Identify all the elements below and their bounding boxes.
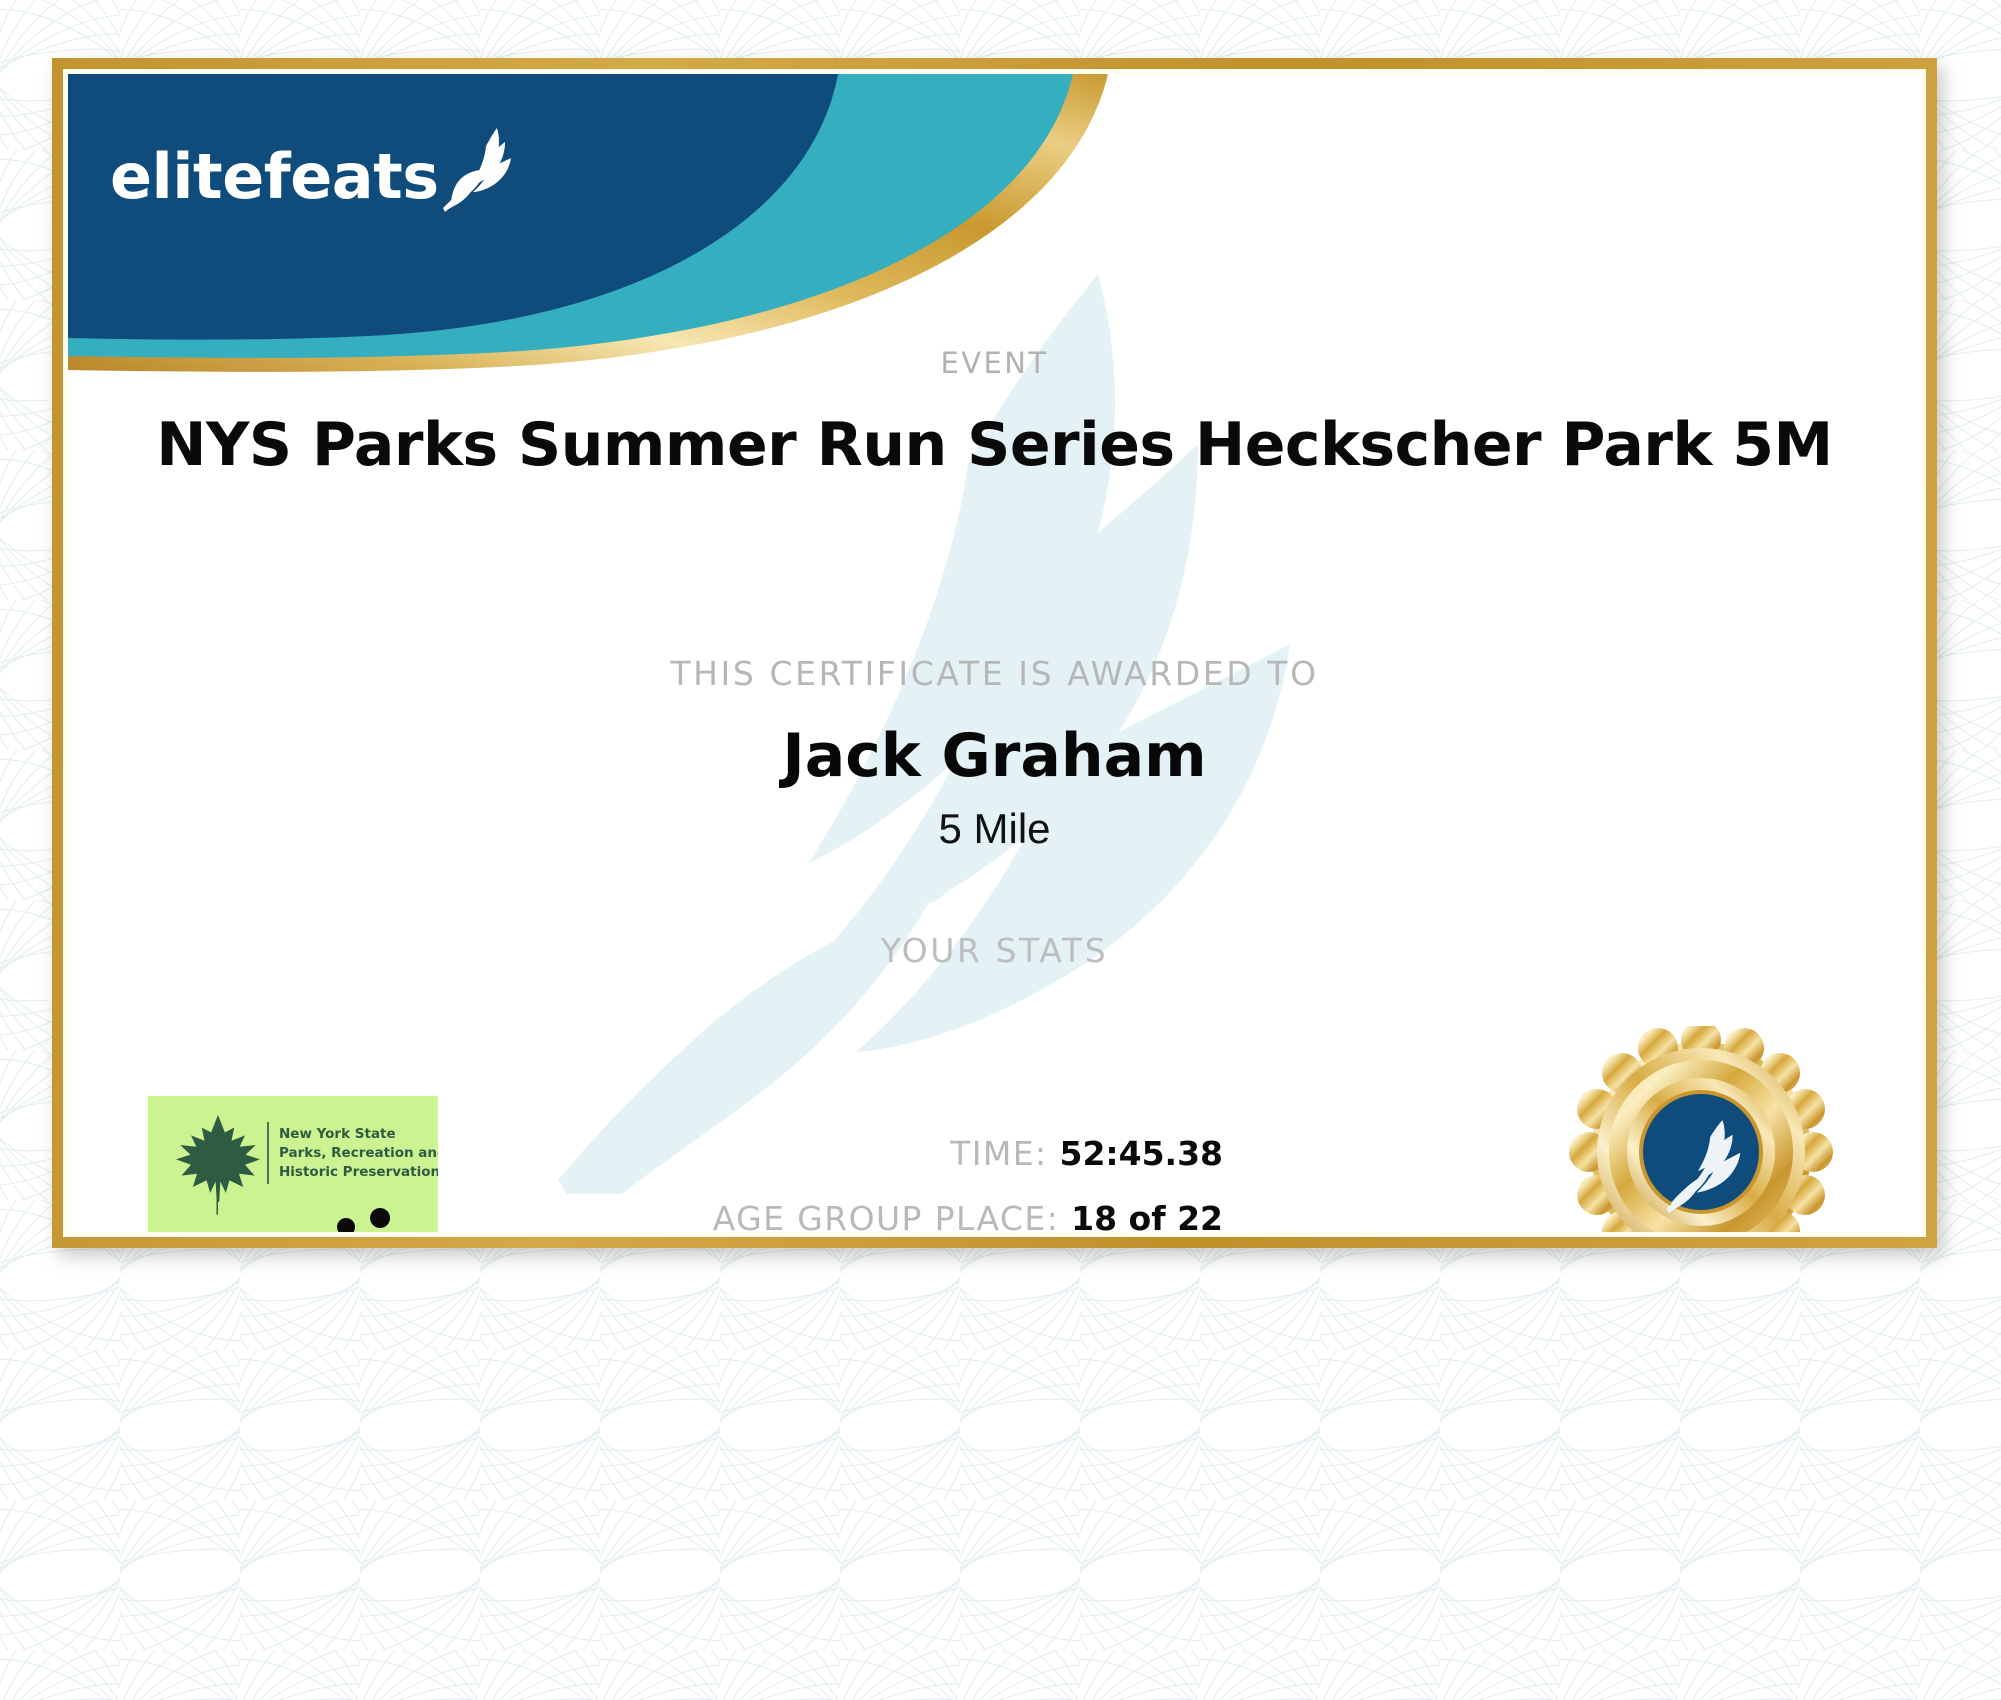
stat-label: TIME: bbox=[950, 1134, 1047, 1173]
certificate-page: elitefeats bbox=[0, 0, 2001, 1700]
stat-label: AGE GROUP PLACE: bbox=[713, 1199, 1059, 1232]
your-stats-label: YOUR STATS bbox=[68, 931, 1921, 970]
awardee-name: Jack Graham bbox=[68, 721, 1921, 791]
stat-value: 18 of 22 bbox=[1071, 1199, 1223, 1232]
stat-row: TIME: 52:45.38 bbox=[423, 1134, 1223, 1173]
event-kicker-label: EVENT bbox=[68, 346, 1921, 380]
elitefeats-logo: elitefeats bbox=[110, 126, 517, 207]
parks-agency-line-3: Historic Preservation bbox=[279, 1164, 438, 1180]
parks-agency-line-1: New York State bbox=[279, 1126, 396, 1142]
certificate-content: EVENT NYS Parks Summer Run Series Hecksc… bbox=[68, 74, 1921, 1232]
nys-parks-summer-run-logo: New York State Parks, Recreation and His… bbox=[148, 1096, 438, 1232]
stat-value: 52:45.38 bbox=[1059, 1134, 1223, 1173]
awarded-to-label: THIS CERTIFICATE IS AWARDED TO bbox=[68, 654, 1921, 693]
race-distance: 5 Mile bbox=[68, 805, 1921, 853]
finisher-badge: 2023 bbox=[1551, 1026, 1851, 1232]
stats-list: TIME: 52:45.38 AGE GROUP PLACE: 18 of 22… bbox=[423, 1134, 1223, 1232]
certificate-body: elitefeats bbox=[68, 74, 1921, 1232]
center-column: EVENT NYS Parks Summer Run Series Hecksc… bbox=[68, 346, 1921, 970]
certificate-gold-border: elitefeats bbox=[52, 58, 1937, 1248]
gold-scalloped-seal-icon: 2023 bbox=[1551, 1026, 1851, 1232]
event-title: NYS Parks Summer Run Series Heckscher Pa… bbox=[68, 410, 1921, 480]
brand-wordmark: elitefeats bbox=[110, 148, 439, 207]
certificate-inner-edge: elitefeats bbox=[63, 69, 1926, 1237]
winged-foot-icon bbox=[441, 126, 517, 219]
parks-agency-line-2: Parks, Recreation and bbox=[279, 1145, 438, 1161]
stat-row: AGE GROUP PLACE: 18 of 22 bbox=[423, 1199, 1223, 1232]
